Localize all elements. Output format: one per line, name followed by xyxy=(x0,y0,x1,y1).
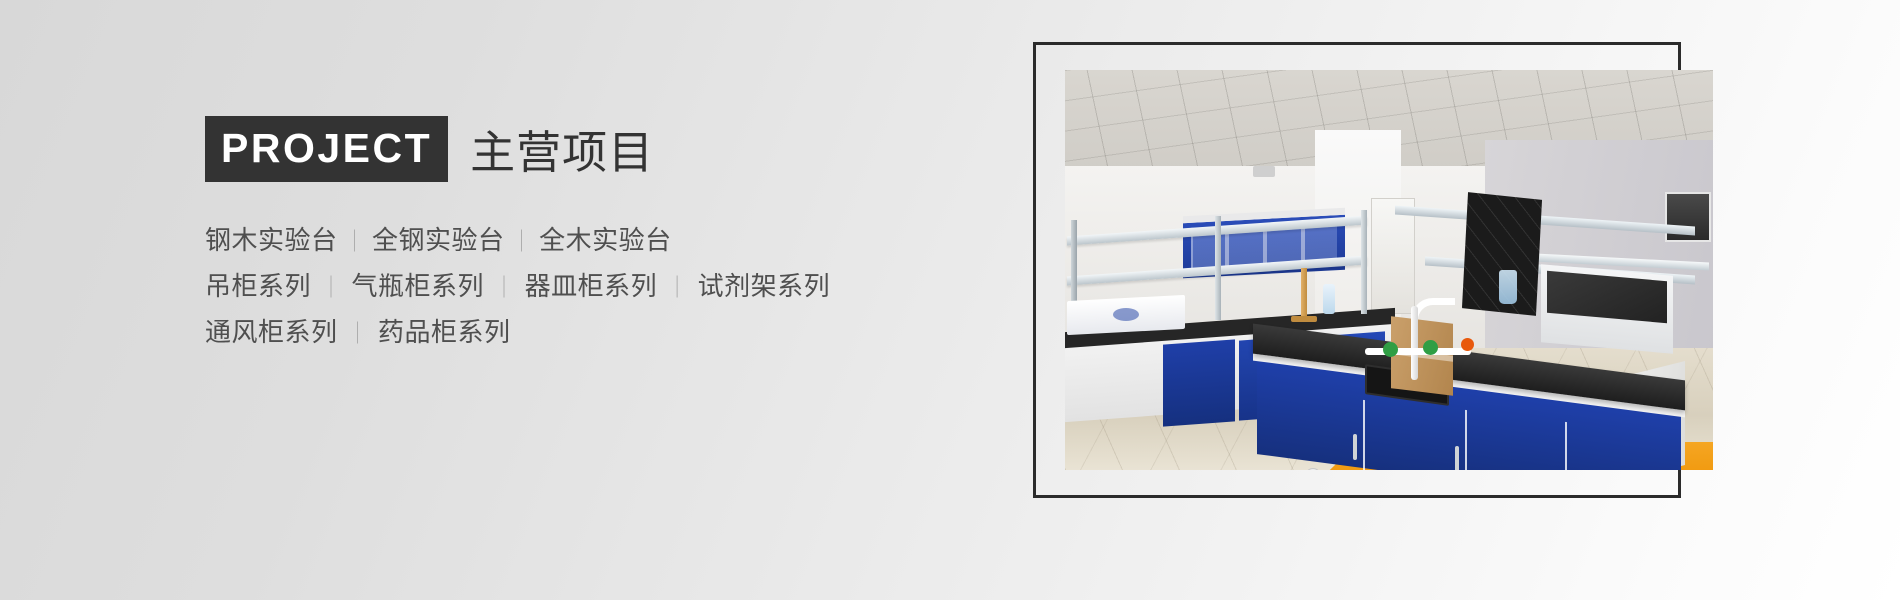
product-item[interactable]: 气瓶柜系列 xyxy=(352,264,485,309)
separator-icon: ｜ xyxy=(311,265,352,310)
wash-bottle xyxy=(1499,270,1517,304)
page-title: 主营项目 xyxy=(470,130,654,182)
product-line-3: 通风柜系列 ｜ 药品柜系列 xyxy=(205,310,905,356)
separator-icon: ｜ xyxy=(484,265,525,310)
gas-valve-bar xyxy=(1365,348,1471,355)
product-item[interactable]: 吊柜系列 xyxy=(205,264,311,309)
banner-section: PROJECT 主营项目 钢木实验台 ｜ 全钢实验台 ｜ 全木实验台 吊柜系列 … xyxy=(0,0,1900,600)
headline-row: PROJECT 主营项目 xyxy=(205,120,905,182)
cabinet-door-seam xyxy=(1363,400,1365,470)
wall-sensor xyxy=(1253,166,1275,177)
product-line-1: 钢木实验台 ｜ 全钢实验台 ｜ 全木实验台 xyxy=(205,218,905,264)
product-item[interactable]: 器皿柜系列 xyxy=(525,264,658,309)
product-item[interactable]: 药品柜系列 xyxy=(378,310,511,355)
separator-icon: ｜ xyxy=(338,219,373,264)
water-valve-knob[interactable] xyxy=(1461,338,1474,351)
laboratory-photo xyxy=(1065,70,1713,470)
product-item[interactable]: 通风柜系列 xyxy=(205,310,338,355)
photo-frame xyxy=(1033,42,1681,498)
package-label xyxy=(1113,308,1139,321)
cabinet-handle[interactable] xyxy=(1353,434,1357,460)
cabinet-handle[interactable] xyxy=(1455,446,1459,470)
project-badge: PROJECT xyxy=(205,116,448,182)
support-stand xyxy=(1301,268,1307,320)
cabinet-door-seam xyxy=(1465,410,1467,470)
banner-copy: PROJECT 主营项目 钢木实验台 ｜ 全钢实验台 ｜ 全木实验台 吊柜系列 … xyxy=(205,120,905,356)
product-line-2: 吊柜系列 ｜ 气瓶柜系列 ｜ 器皿柜系列 ｜ 试剂架系列 xyxy=(205,264,905,310)
separator-icon: ｜ xyxy=(338,311,379,356)
product-item[interactable]: 试剂架系列 xyxy=(698,264,831,309)
gas-valve-knob[interactable] xyxy=(1423,340,1438,355)
lab-bottle xyxy=(1323,284,1335,314)
product-item[interactable]: 全钢实验台 xyxy=(372,218,505,263)
product-list: 钢木实验台 ｜ 全钢实验台 ｜ 全木实验台 吊柜系列 ｜ 气瓶柜系列 ｜ 器皿柜… xyxy=(205,218,905,356)
gas-valve-knob[interactable] xyxy=(1383,342,1398,357)
faucet-body xyxy=(1411,306,1418,380)
shelf-post xyxy=(1361,210,1367,314)
product-item[interactable]: 钢木实验台 xyxy=(205,218,338,263)
separator-icon: ｜ xyxy=(657,265,698,310)
shelf-post xyxy=(1215,216,1221,320)
back-cabinet xyxy=(1163,339,1235,426)
product-item[interactable]: 全木实验台 xyxy=(539,218,672,263)
separator-icon: ｜ xyxy=(505,219,540,264)
cabinet-door-seam xyxy=(1565,422,1567,470)
support-stand-base xyxy=(1291,316,1317,322)
